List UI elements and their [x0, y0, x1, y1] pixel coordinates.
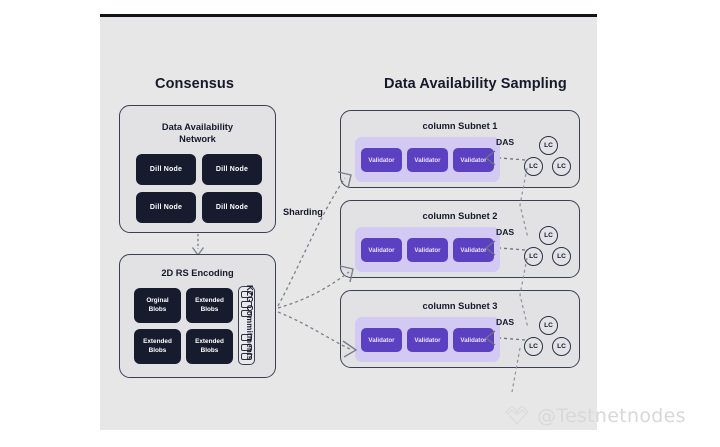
diagram-root: Consensus Data Availability Sampling Dat…	[0, 0, 720, 447]
card-column-subnet-3: column Subnet 3 Validator Validator Vali…	[340, 290, 580, 368]
subnet-title: column Subnet 2	[341, 210, 579, 222]
validator-box: Validator	[407, 148, 448, 172]
light-client-node: LC	[552, 157, 571, 176]
blob-label-line1: Extended	[195, 297, 224, 306]
blob-label-line2: Blobs	[149, 306, 167, 315]
light-client-node: LC	[524, 157, 543, 176]
heading-data-availability-sampling: Data Availability Sampling	[384, 76, 567, 92]
dill-node: Dill Node	[202, 192, 262, 223]
validator-box: Validator	[361, 328, 402, 352]
light-client-node: LC	[552, 337, 571, 356]
light-client-node: LC	[552, 247, 571, 266]
validator-box: Validator	[453, 148, 494, 172]
diamond-chevron-logo-icon	[505, 406, 531, 426]
heading-consensus: Consensus	[155, 76, 234, 92]
rs-encoding-title: 2D RS Encoding	[120, 267, 275, 279]
dill-node: Dill Node	[136, 192, 196, 223]
dill-node: Dill Node	[136, 154, 196, 185]
sharding-label: Sharding	[283, 207, 323, 217]
da-network-title-line1: Data Availability	[162, 122, 233, 132]
da-network-title-line2: Network	[179, 134, 216, 144]
watermark: @Testnetnodes	[505, 405, 686, 427]
validator-box: Validator	[407, 238, 448, 262]
validator-box: Validator	[453, 238, 494, 262]
blob-label-line1: Orginal	[146, 297, 168, 306]
blob-label-line1: Extended	[143, 338, 172, 347]
validator-box: Validator	[361, 148, 402, 172]
das-label: DAS	[496, 317, 514, 327]
blob-label-line1: Extended	[195, 338, 224, 347]
das-label: DAS	[496, 137, 514, 147]
das-label: DAS	[496, 227, 514, 237]
card-2d-rs-encoding: 2D RS Encoding Orginal Blobs Extended Bl…	[119, 254, 276, 378]
light-client-node: LC	[524, 337, 543, 356]
light-client-node: LC	[539, 316, 558, 335]
dill-node: Dill Node	[202, 154, 262, 185]
da-network-title: Data Availability Network	[120, 121, 275, 145]
validator-box: Validator	[407, 328, 448, 352]
subnet-title: column Subnet 1	[341, 120, 579, 132]
light-client-node: LC	[539, 226, 558, 245]
subnet-title: column Subnet 3	[341, 300, 579, 312]
blob-box: Extended Blobs	[186, 329, 233, 364]
card-column-subnet-1: column Subnet 1 Validator Validator Vali…	[340, 110, 580, 188]
validator-group: Validator Validator Validator	[355, 137, 500, 182]
blob-label-line2: Blobs	[201, 306, 219, 315]
blob-label-line2: Blobs	[201, 347, 219, 356]
blob-label-line2: Blobs	[149, 347, 167, 356]
blob-box: Extended Blobs	[186, 288, 233, 323]
validator-box: Validator	[361, 238, 402, 262]
validator-group: Validator Validator Validator	[355, 317, 500, 362]
card-column-subnet-2: column Subnet 2 Validator Validator Vali…	[340, 200, 580, 278]
light-client-node: LC	[539, 136, 558, 155]
blob-box: Orginal Blobs	[134, 288, 181, 323]
validator-box: Validator	[453, 328, 494, 352]
card-data-availability-network: Data Availability Network Dill Node Dill…	[119, 105, 276, 233]
kzg-commitments-label: KZG Commitments	[242, 285, 254, 365]
validator-group: Validator Validator Validator	[355, 227, 500, 272]
light-client-node: LC	[524, 247, 543, 266]
blob-box: Extended Blobs	[134, 329, 181, 364]
watermark-text: @Testnetnodes	[537, 405, 686, 427]
